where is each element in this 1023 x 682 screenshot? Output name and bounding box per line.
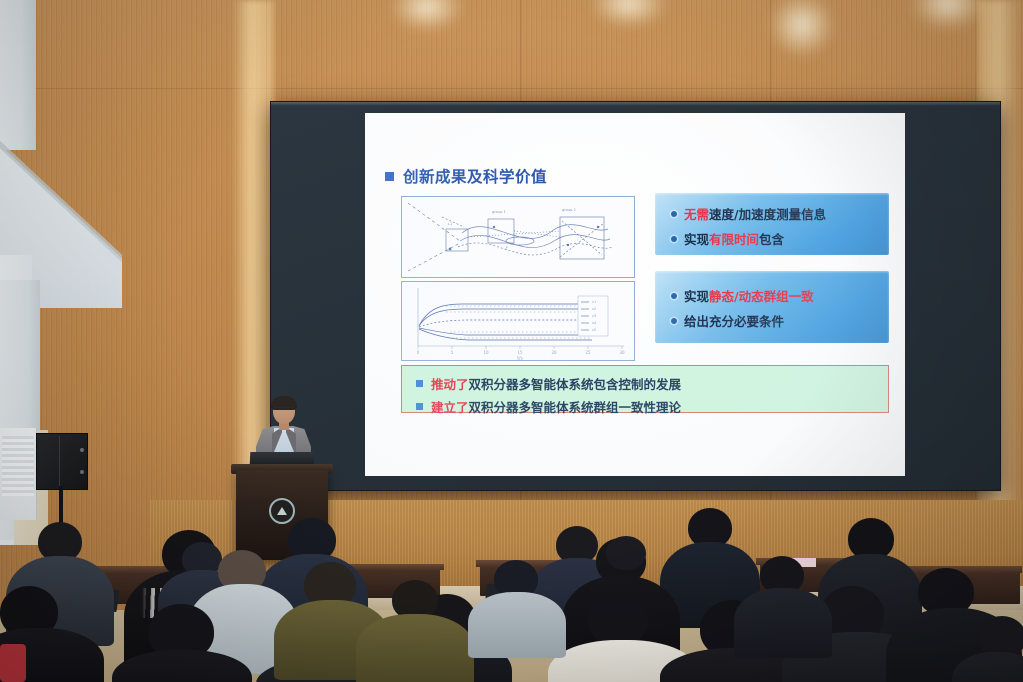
wall-seam: [0, 88, 1023, 89]
loudspeaker: [36, 433, 88, 490]
speaker-seam: [59, 436, 60, 487]
figure-trajectory-diagram: group 1 group 2 L1 F: [401, 196, 635, 278]
svg-text:L1: L1: [448, 222, 452, 226]
square-bullet-icon: [416, 380, 423, 387]
slide-title-row: 创新成果及科学价值: [385, 165, 547, 187]
svg-text:0: 0: [417, 350, 420, 355]
summary-text: 建立了双积分器多智能体系统群组一致性理论: [431, 397, 681, 416]
svg-text:t/s: t/s: [517, 356, 523, 361]
head: [588, 594, 648, 646]
bullet-dot-icon: [671, 236, 677, 242]
callout-box-innovation-1: 无需速度/加速度测量信息 实现有限时间包含: [655, 193, 889, 255]
callout-line: 给出充分必要条件: [671, 311, 879, 330]
callout-box-innovation-2: 实现静态/动态群组一致 给出充分必要条件: [655, 271, 889, 343]
svg-text:x1: x1: [592, 300, 596, 304]
torso: [734, 588, 832, 658]
speaker-mount-knob: [80, 470, 84, 474]
summary-text: 推动了双积分器多智能体系统包含控制的发展: [431, 374, 681, 393]
torso: [356, 614, 474, 682]
callout-line: 无需速度/加速度测量信息: [671, 204, 879, 223]
figure-convergence-plot: 05 1015 2025 30 t/s: [401, 281, 635, 361]
summary-line: 推动了双积分器多智能体系统包含控制的发展: [416, 374, 878, 393]
head: [606, 536, 646, 570]
presenter-glasses: [274, 407, 294, 413]
bullet-dot-icon: [671, 318, 677, 324]
audience: [0, 498, 1023, 682]
summary-box-contributions: 推动了双积分器多智能体系统包含控制的发展 建立了双积分器多智能体系统群组一致性理…: [401, 365, 889, 413]
callout-line: 实现静态/动态群组一致: [671, 286, 879, 305]
callout-text: 给出充分必要条件: [684, 311, 784, 330]
svg-text:15: 15: [517, 350, 523, 355]
callout-line: 实现有限时间包含: [671, 229, 879, 248]
svg-text:x4: x4: [592, 321, 596, 325]
torso: [468, 592, 566, 658]
svg-text:30: 30: [619, 350, 625, 355]
svg-text:x2: x2: [592, 307, 596, 311]
svg-text:F: F: [506, 246, 508, 250]
bullet-dot-icon: [671, 293, 677, 299]
svg-text:x3: x3: [592, 314, 596, 318]
svg-text:5: 5: [451, 350, 454, 355]
svg-text:x5: x5: [592, 328, 596, 332]
svg-text:group 1: group 1: [492, 210, 506, 214]
bullet-dot-icon: [671, 211, 677, 217]
slide-title: 创新成果及科学价值: [403, 165, 547, 187]
ac-louvers: [2, 436, 34, 496]
callout-text: 实现有限时间包含: [684, 229, 784, 248]
projected-slide: 创新成果及科学价值: [365, 113, 905, 476]
svg-text:20: 20: [551, 350, 557, 355]
speaker-mount-knob: [80, 448, 84, 452]
red-garment: [0, 644, 26, 682]
svg-text:10: 10: [483, 350, 489, 355]
callout-text: 无需速度/加速度测量信息: [684, 204, 826, 223]
callout-text: 实现静态/动态群组一致: [684, 286, 814, 305]
svg-text:25: 25: [585, 350, 591, 355]
square-bullet-icon: [416, 403, 423, 410]
summary-line: 建立了双积分器多智能体系统群组一致性理论: [416, 397, 878, 416]
lecture-hall-scene: 创新成果及科学价值: [0, 0, 1023, 682]
square-bullet-icon: [385, 172, 394, 181]
soffit-upper-panel: [0, 0, 36, 150]
svg-text:group 2: group 2: [562, 208, 576, 212]
